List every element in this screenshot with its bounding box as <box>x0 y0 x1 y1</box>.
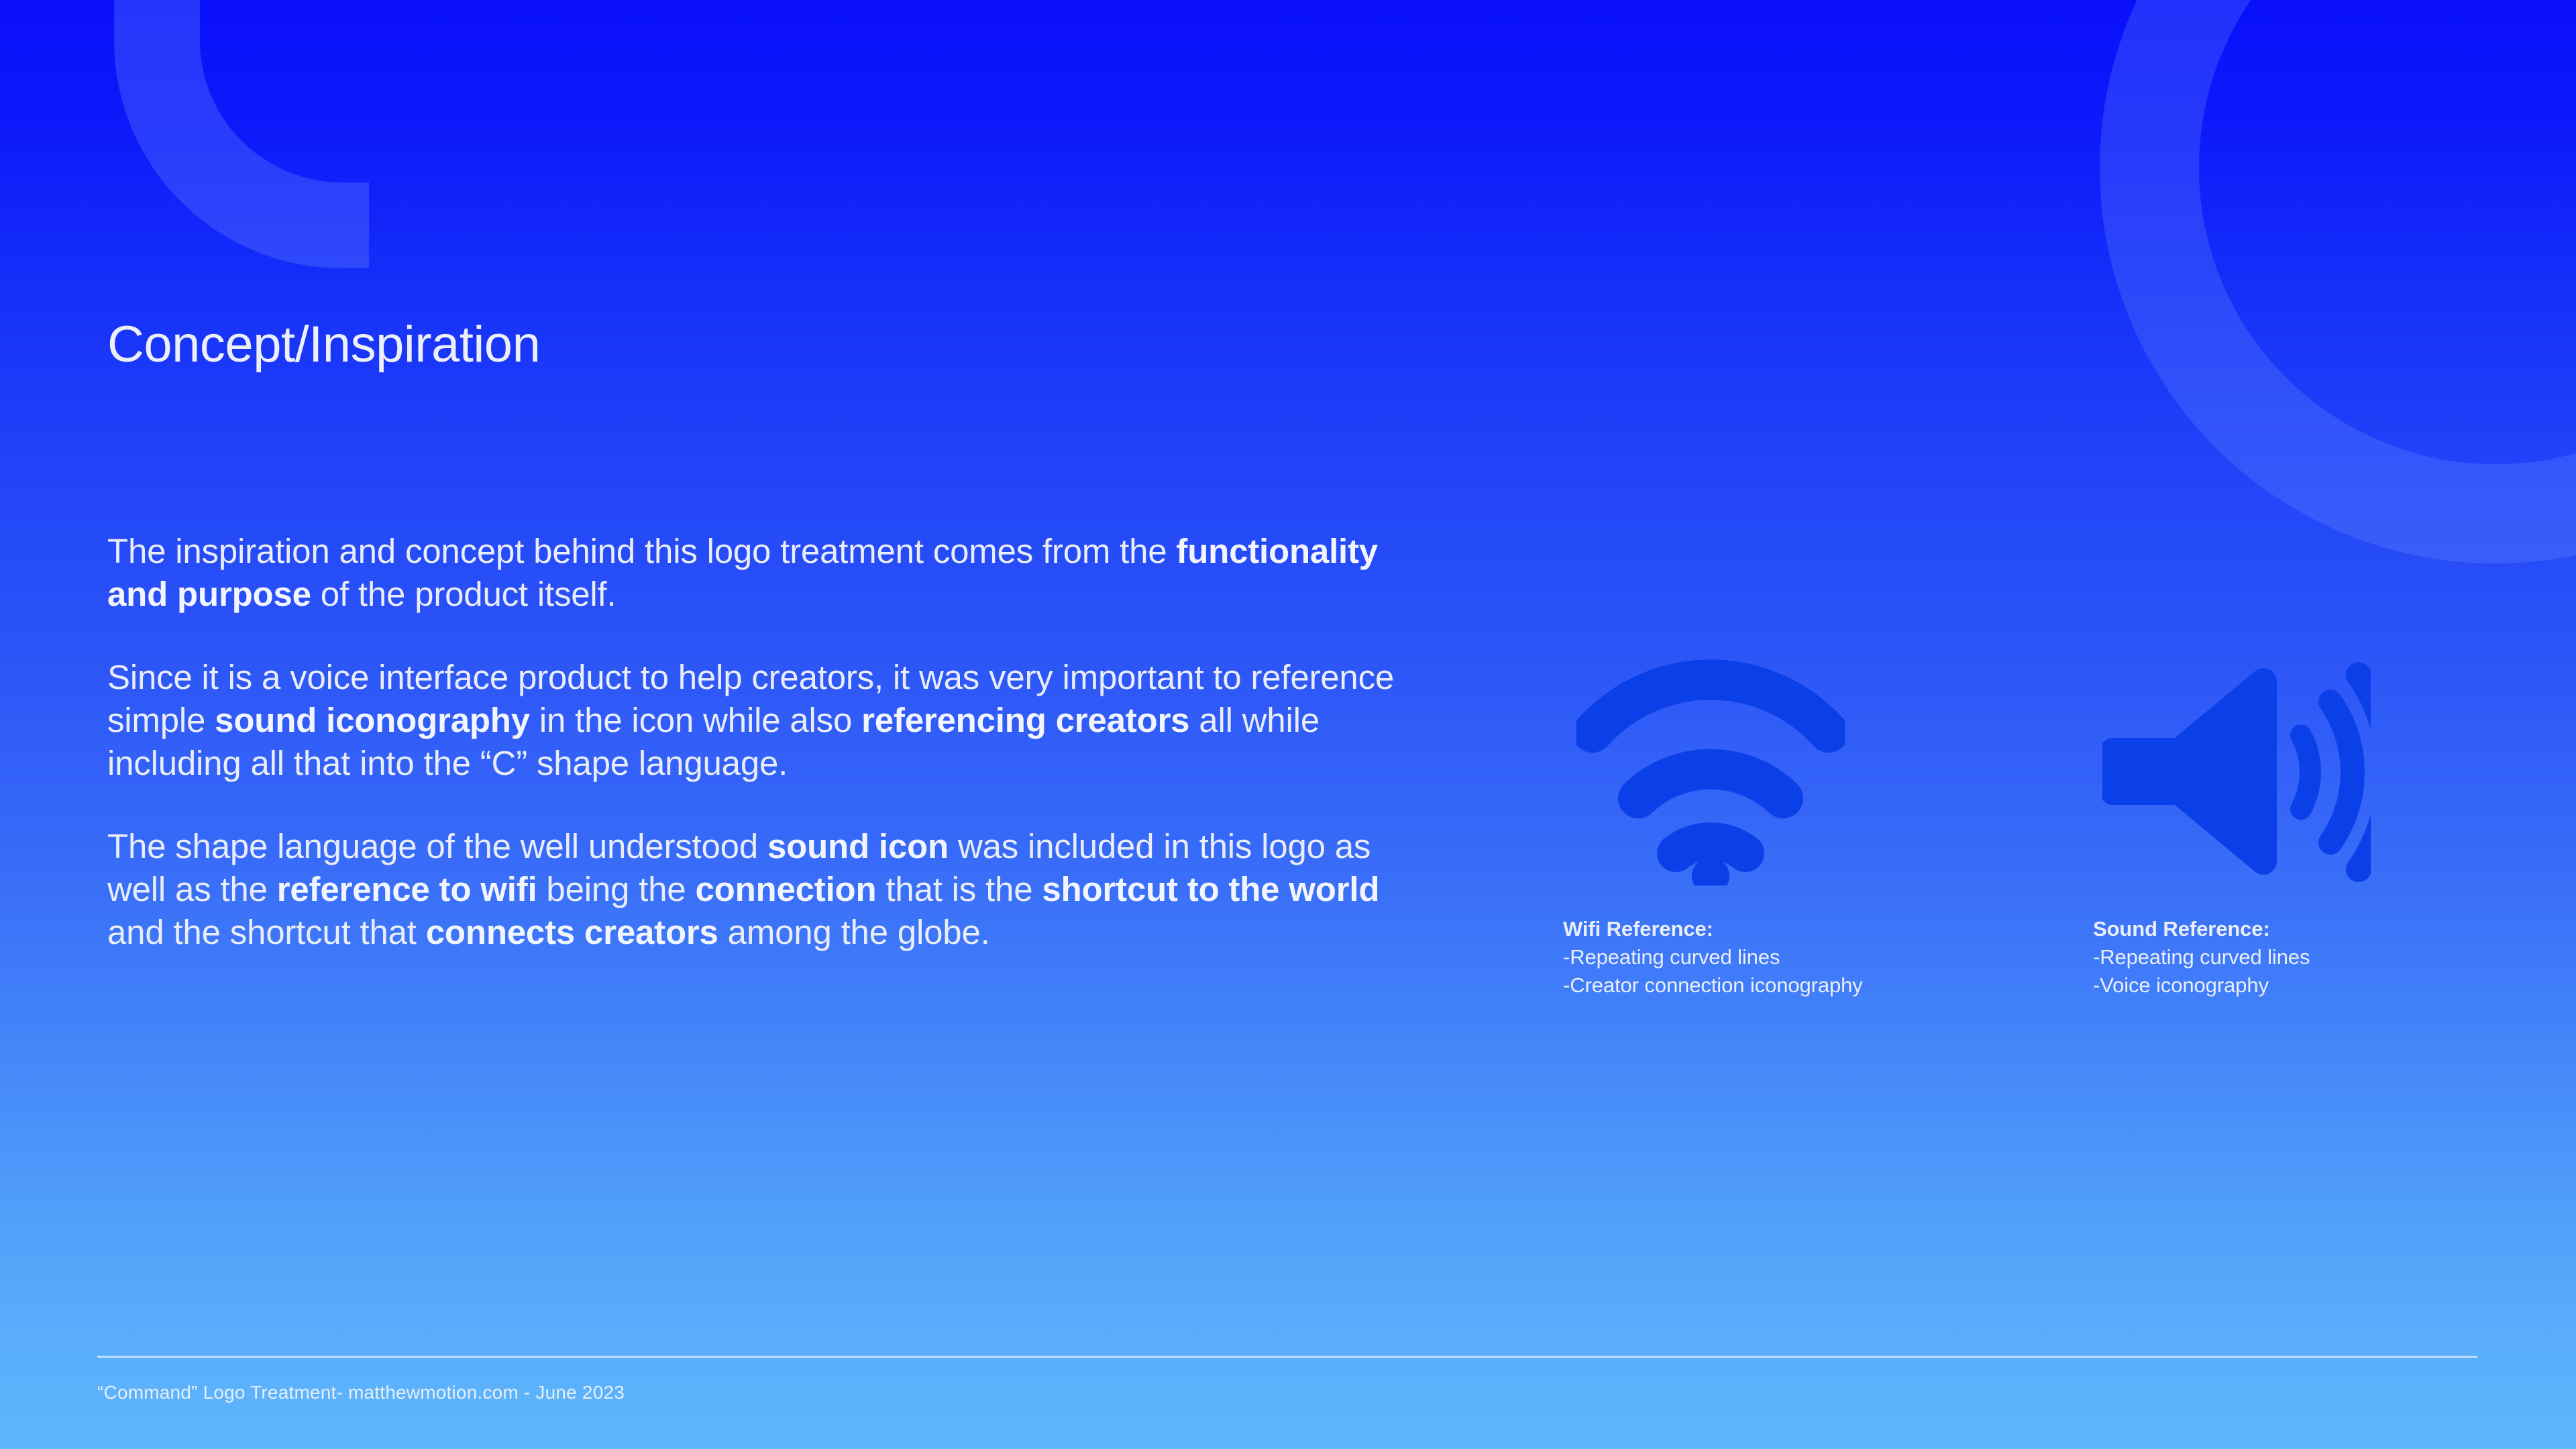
wifi-caption-line-2: -Creator connection iconography <box>1563 971 1979 1000</box>
sound-reference-block: Sound Reference: -Repeating curved lines… <box>2093 657 2469 1000</box>
text-run: being the <box>537 870 695 908</box>
text-run-bold: sound icon <box>767 827 949 865</box>
wifi-caption-line-1: -Repeating curved lines <box>1563 943 1979 971</box>
sound-caption-line-1: -Repeating curved lines <box>2093 943 2469 971</box>
text-run: in the icon while also <box>530 701 861 739</box>
text-run: The shape language of the well understoo… <box>107 827 767 865</box>
text-run-bold: referencing creators <box>861 701 1189 739</box>
sound-caption-line-2: -Voice iconography <box>2093 971 2469 1000</box>
decorative-quarter-ring-shape <box>114 0 369 268</box>
text-run: The inspiration and concept behind this … <box>107 532 1176 570</box>
speaker-volume-icon <box>2102 657 2371 885</box>
text-run: that is the <box>876 870 1042 908</box>
wifi-reference-block: Wifi Reference: -Repeating curved lines … <box>1563 657 1979 1000</box>
paragraph-3: The shape language of the well understoo… <box>107 825 1422 954</box>
text-run-bold: shortcut to the world <box>1042 870 1379 908</box>
wifi-reference-caption: Wifi Reference: -Repeating curved lines … <box>1563 915 1979 1000</box>
text-run-bold: reference to wifi <box>277 870 537 908</box>
body-copy: The inspiration and concept behind this … <box>107 530 1422 954</box>
text-run: of the product itself. <box>311 575 616 613</box>
sound-caption-title: Sound Reference: <box>2093 915 2469 943</box>
text-run-bold: sound iconography <box>215 701 530 739</box>
sound-reference-caption: Sound Reference: -Repeating curved lines… <box>2093 915 2469 1000</box>
text-run-bold: connection <box>695 870 876 908</box>
slide-canvas: Concept/Inspiration The inspiration and … <box>0 0 2576 1449</box>
text-run-bold: connects creators <box>426 913 718 951</box>
footer-divider <box>97 1356 2477 1358</box>
wifi-caption-title: Wifi Reference: <box>1563 915 1979 943</box>
decorative-large-ring-shape <box>2100 0 2576 563</box>
text-run: among the globe. <box>718 913 990 951</box>
wifi-icon <box>1576 657 1845 885</box>
text-run: and the shortcut that <box>107 913 426 951</box>
paragraph-1: The inspiration and concept behind this … <box>107 530 1422 616</box>
paragraph-2: Since it is a voice interface product to… <box>107 656 1422 785</box>
footer-credit: “Command” Logo Treatment- matthewmotion.… <box>97 1382 625 1403</box>
page-title: Concept/Inspiration <box>107 315 540 374</box>
